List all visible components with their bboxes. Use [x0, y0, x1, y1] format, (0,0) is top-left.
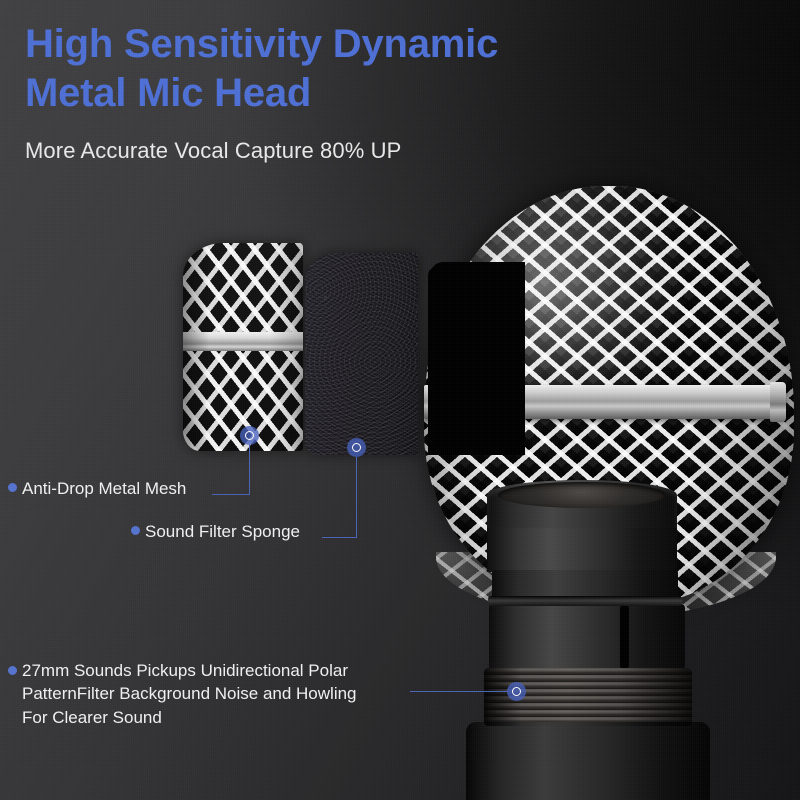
- callout-leader-horizontal-metal-mesh: [212, 494, 250, 495]
- callout-marker-sound-filter-sponge[interactable]: [347, 438, 366, 457]
- callout-leader-vertical-filter-sponge: [356, 457, 357, 538]
- callout-marker-polar-pattern[interactable]: [507, 682, 526, 701]
- callout-leader-horizontal-polar-pattern: [410, 691, 508, 692]
- callout-label-sound-filter-sponge: Sound Filter Sponge: [145, 520, 300, 543]
- callout-marker-anti-drop-metal-mesh[interactable]: [240, 426, 259, 445]
- callout-bullet-anti-drop-metal-mesh: [8, 483, 17, 492]
- callout-bullet-sound-filter-sponge: [131, 526, 140, 535]
- product-infographic: High Sensitivity Dynamic Metal Mic Head …: [0, 0, 800, 800]
- callout-bullet-polar-pattern: [8, 666, 17, 675]
- callout-leader-vertical-metal-mesh: [249, 445, 250, 495]
- callout-label-anti-drop-metal-mesh: Anti-Drop Metal Mesh: [22, 477, 186, 500]
- callout-layer: Anti-Drop Metal Mesh Sound Filter Sponge…: [0, 0, 800, 800]
- callout-label-polar-pattern: 27mm Sounds Pickups Unidirectional Polar…: [22, 659, 357, 729]
- callout-leader-horizontal-filter-sponge: [322, 537, 357, 538]
